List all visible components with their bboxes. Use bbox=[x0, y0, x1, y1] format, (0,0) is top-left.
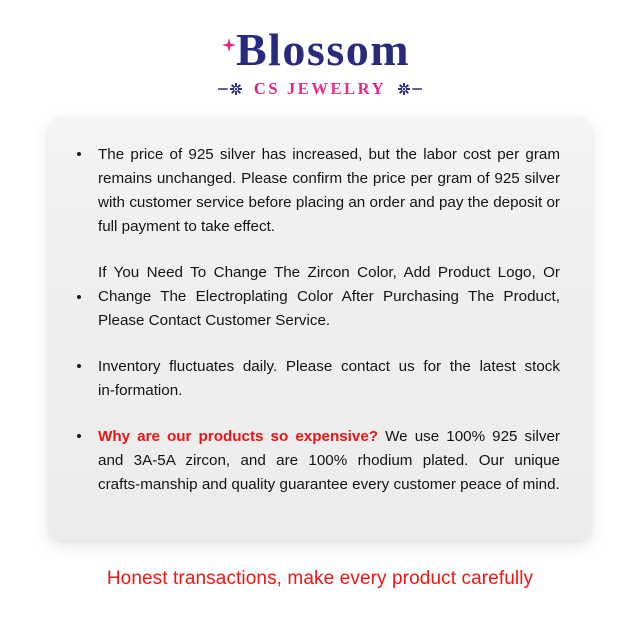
notice-list: The price of 925 silver has increased, b… bbox=[74, 143, 560, 497]
bullet-dot-icon bbox=[77, 295, 81, 299]
brand-header: Blossom CS JEWELRY bbox=[0, 0, 640, 99]
notice-highlight-question: Why are our products so expensive? bbox=[98, 428, 378, 445]
notice-text-inventory: Inventory fluctuates daily. Please conta… bbox=[98, 358, 560, 399]
bullet-dot-icon bbox=[77, 364, 81, 368]
brand-subtitle-row: CS JEWELRY bbox=[0, 79, 640, 99]
notice-text-customization: If You Need To Change The Zircon Color, … bbox=[98, 264, 560, 329]
list-item: Inventory fluctuates daily. Please conta… bbox=[74, 355, 560, 403]
notice-card: The price of 925 silver has increased, b… bbox=[48, 117, 592, 540]
snowflake-ornament-left-icon bbox=[218, 81, 248, 97]
notice-text-price: The price of 925 silver has increased, b… bbox=[98, 146, 560, 235]
bullet-dot-icon bbox=[77, 152, 81, 156]
brand-subtitle: CS JEWELRY bbox=[254, 79, 386, 99]
list-item: The price of 925 silver has increased, b… bbox=[74, 143, 560, 239]
list-item: Why are our products so expensive? We us… bbox=[74, 425, 560, 497]
bullet-dot-icon bbox=[77, 434, 81, 438]
list-item: If You Need To Change The Zircon Color, … bbox=[74, 261, 560, 333]
footer-tagline: Honest transactions, make every product … bbox=[0, 568, 640, 590]
snowflake-ornament-right-icon bbox=[392, 81, 422, 97]
brand-title-row: Blossom bbox=[230, 26, 410, 74]
brand-title: Blossom bbox=[230, 26, 410, 74]
